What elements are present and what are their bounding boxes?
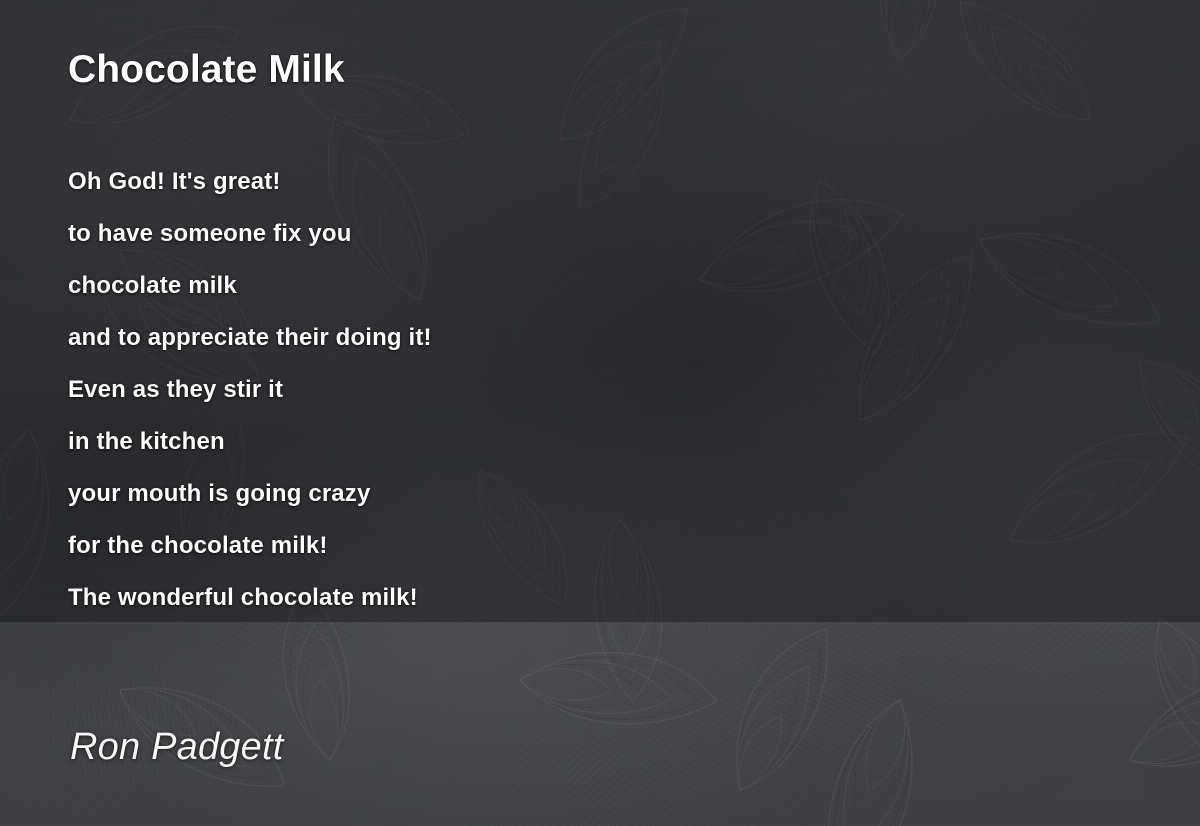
poem-line: in the kitchen	[68, 416, 968, 468]
poem-line: The wonderful chocolate milk!	[68, 572, 968, 624]
poem-author: Ron Padgett	[70, 726, 283, 769]
poem-line: Even as they stir it	[68, 364, 968, 416]
poem-card: Chocolate Milk Oh God! It's great! to ha…	[0, 0, 1200, 826]
poem-line: chocolate milk	[68, 260, 968, 312]
poem-body: Oh God! It's great! to have someone fix …	[68, 156, 968, 624]
poem-title: Chocolate Milk	[68, 48, 345, 92]
poem-line: Oh God! It's great!	[68, 156, 968, 208]
poem-content: Chocolate Milk Oh God! It's great! to ha…	[0, 0, 1200, 826]
poem-line: your mouth is going crazy	[68, 468, 968, 520]
poem-line: and to appreciate their doing it!	[68, 312, 968, 364]
poem-line: to have someone fix you	[68, 208, 968, 260]
poem-line: for the chocolate milk!	[68, 520, 968, 572]
